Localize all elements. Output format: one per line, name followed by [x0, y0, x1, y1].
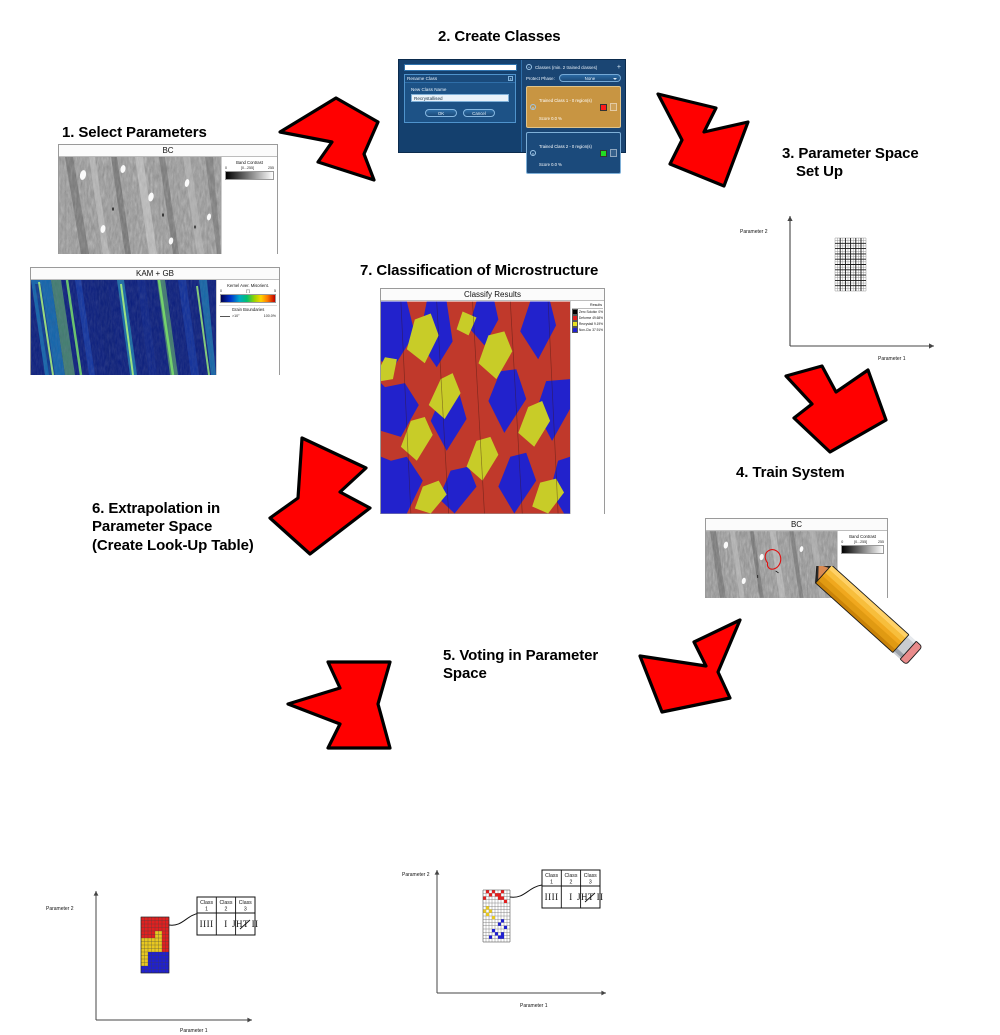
- arrow-step-3-to-4: [778, 360, 894, 460]
- kam-legend-colorbar: [220, 294, 276, 303]
- ok-button[interactable]: OK: [425, 109, 457, 117]
- rename-dialog-area: Rename Class x New Class Name Recrystall…: [399, 60, 521, 152]
- arrow-step-4-to-5: [630, 614, 756, 720]
- chevron-up-icon[interactable]: ^: [526, 64, 532, 70]
- step-1-title: 1. Select Parameters: [62, 124, 282, 142]
- kam-legend: Kernel Aver. Misorient. 0 [°] 5 Grain Bo…: [216, 280, 279, 375]
- lookup-col-2-num: 2: [225, 907, 228, 913]
- lookup-table-plot: Parameter 2 Parameter 1: [40, 875, 1000, 1035]
- protect-phase-value: None: [585, 76, 596, 81]
- protect-phase-select[interactable]: None: [559, 74, 621, 82]
- close-icon[interactable]: x: [508, 76, 513, 81]
- legend-pct-recrystallised: 9.19%: [594, 322, 603, 327]
- legend-label-zero-solution: Zero Solution: [579, 310, 597, 315]
- step-2-title: 2. Create Classes: [438, 28, 638, 46]
- kam-legend-gb-row: >10° 100.0%: [219, 313, 277, 319]
- kam-map-title: KAM + GB: [31, 268, 279, 280]
- classes-panel-title: Classes (min. 2 trained classes): [535, 65, 597, 70]
- classify-results-image: [381, 301, 570, 514]
- arrow-step-6-to-7: [262, 432, 378, 560]
- trained-class-2-color-swatch[interactable]: [600, 150, 607, 157]
- kam-gb-value: 100.0%: [264, 313, 276, 319]
- step-7-title: 7. Classification of Microstructure: [360, 262, 680, 280]
- lookup-tally-2: I: [224, 919, 228, 929]
- trained-class-1-score: Score 0.0 %: [539, 116, 562, 121]
- arrow-step-2-to-3: [644, 86, 760, 196]
- parameter-space-setup-plot: Parameter 2 Parameter 1: [738, 198, 1000, 363]
- cancel-button[interactable]: Cancel: [463, 109, 495, 117]
- kam-map-image: [31, 280, 216, 375]
- add-class-icon[interactable]: +: [617, 65, 621, 70]
- train-legend-min: 0: [841, 540, 843, 545]
- trained-class-1-card[interactable]: v Trained Class 1 - 0 region(s) Score 0.…: [526, 86, 621, 128]
- lookup-col-3-num: 3: [244, 907, 247, 913]
- step-5-title-line2: Space: [443, 665, 633, 683]
- kam-legend-sub-title: Grain Boundaries: [219, 305, 277, 313]
- pencil-icon: [808, 566, 944, 682]
- window-toolbar: [404, 64, 517, 71]
- protect-phase-label: Protect Phase:: [526, 76, 555, 81]
- rename-dialog-titlebar: Rename Class x: [405, 75, 515, 83]
- ps-setup-grid: [835, 238, 866, 291]
- kam-map-panel: KAM + GB: [30, 267, 280, 375]
- bc-map-panel: BC: [58, 144, 278, 254]
- classify-results-title: Classify Results: [381, 289, 604, 301]
- step-5-title-line1: 5. Voting in Parameter: [443, 647, 633, 665]
- step-5-title: 5. Voting in Parameter Space: [443, 647, 633, 684]
- lookup-xlabel: Parameter 1: [180, 1028, 208, 1034]
- train-legend-range: [0...255]: [854, 540, 867, 545]
- legend-label-recrystallised: Recrystallised: [579, 322, 593, 327]
- create-classes-window: Rename Class x New Class Name Recrystall…: [398, 59, 626, 153]
- chevron-down-icon[interactable]: v: [530, 104, 536, 110]
- step-4-title: 4. Train System: [736, 464, 936, 482]
- legend-label-deformed: Deformed: [579, 316, 591, 321]
- classify-legend-row: Non-Classified 37.91%: [572, 327, 603, 333]
- delete-icon[interactable]: [610, 103, 617, 111]
- ps-setup-ylabel: Parameter 2: [740, 229, 768, 235]
- lookup-tally-table: Class 1 Class 2 Class 3 IIII I JHT II: [197, 897, 259, 935]
- lookup-col-1-num: 1: [205, 907, 208, 913]
- step-3-title-line1: 3. Parameter Space: [782, 145, 962, 163]
- new-class-name-label: New Class Name: [411, 87, 509, 92]
- protect-phase-row: Protect Phase: None: [526, 74, 621, 82]
- legend-swatch-non-classified: [572, 327, 578, 333]
- trained-class-1-color-swatch[interactable]: [600, 104, 607, 111]
- lookup-ylabel: Parameter 2: [46, 906, 74, 912]
- arrow-step-5-to-6: [282, 648, 398, 758]
- legend-pct-non-classified: 37.91%: [592, 328, 603, 333]
- bc-legend-colorbar: [225, 171, 274, 180]
- trained-class-2-score: Score 0.0 %: [539, 162, 562, 167]
- chevron-down-icon: [613, 78, 617, 80]
- kam-legend-max: 5: [274, 289, 276, 294]
- lookup-col-1-head: Class: [200, 900, 213, 906]
- lookup-connector: [169, 913, 200, 925]
- bc-legend-range: [0...255]: [241, 166, 254, 171]
- rename-class-dialog: Rename Class x New Class Name Recrystall…: [404, 74, 516, 123]
- rename-dialog-title: Rename Class: [407, 76, 437, 81]
- kam-legend-units: [°]: [246, 289, 249, 294]
- kam-legend-min: 0: [220, 289, 222, 294]
- lookup-col-3-head: Class: [239, 900, 252, 906]
- bc-legend: Band Contrast 0 [0...255] 255: [221, 157, 277, 254]
- train-legend-max: 255: [878, 540, 884, 545]
- legend-pct-deformed: 49.68%: [592, 316, 603, 321]
- step-3-title: 3. Parameter Space Set Up: [782, 145, 962, 182]
- lookup-grid: [141, 917, 169, 973]
- new-class-name-input[interactable]: Recrystallised: [411, 94, 509, 102]
- train-map-title: BC: [706, 519, 887, 531]
- lookup-tally-1: IIII: [200, 919, 214, 929]
- legend-label-non-classified: Non-Classified: [579, 328, 591, 333]
- step-3-title-line2: Set Up: [782, 163, 962, 181]
- classify-results-panel: Classify Results: [380, 288, 605, 514]
- arrow-step-1-to-2: [274, 92, 390, 188]
- classify-legend: Results Zero Solution 0% Deformed 49.68%…: [570, 301, 604, 514]
- trained-class-1-title: Trained Class 1 - 0 region(s): [539, 98, 592, 103]
- bc-legend-min: 0: [225, 166, 227, 171]
- classes-panel-header: ^ Classes (min. 2 trained classes) +: [526, 64, 621, 70]
- lookup-col-2-head: Class: [220, 900, 233, 906]
- legend-pct-zero-solution: 0%: [598, 310, 603, 315]
- train-legend-colorbar: [841, 545, 884, 554]
- classes-panel: ^ Classes (min. 2 trained classes) + Pro…: [521, 60, 625, 152]
- bc-map-title: BC: [59, 145, 277, 157]
- trained-class-2-card[interactable]: v Trained Class 2 - 0 region(s) Score 0.…: [526, 132, 621, 174]
- kam-gb-label: >10°: [232, 313, 240, 319]
- gb-line-icon: [220, 316, 230, 317]
- delete-icon[interactable]: [610, 149, 617, 157]
- chevron-down-icon[interactable]: v: [530, 150, 536, 156]
- trained-class-2-title: Trained Class 2 - 0 region(s): [539, 144, 592, 149]
- bc-map-image: [59, 157, 221, 254]
